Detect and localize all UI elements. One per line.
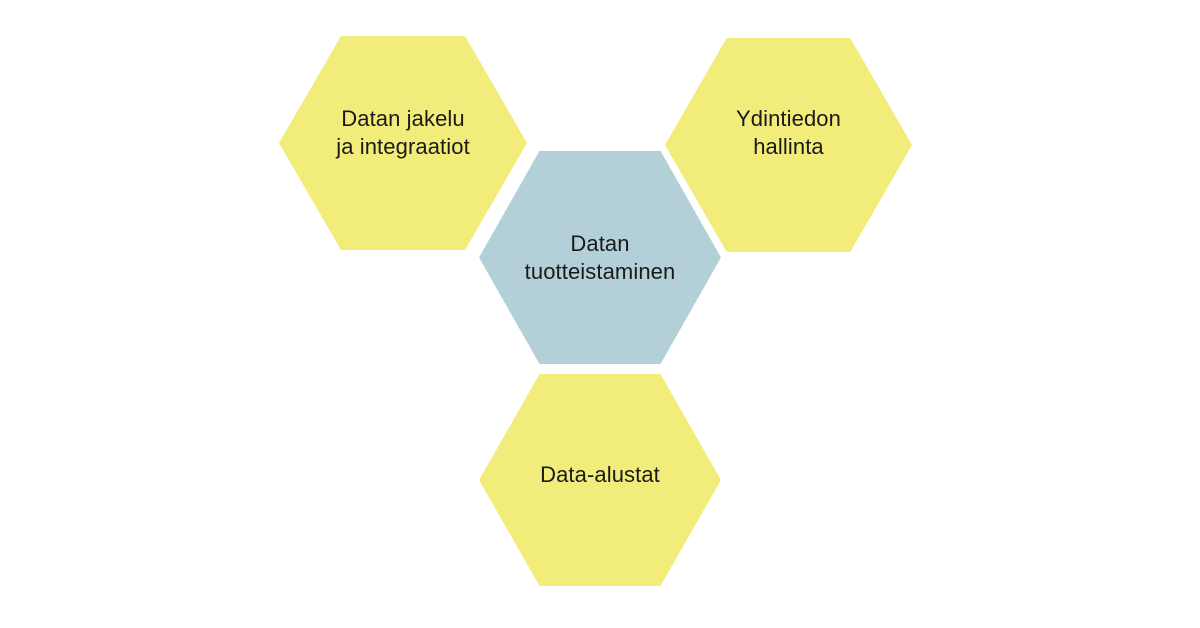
hexagon-label-data-distribution: Datan jakelu ja integraatiot <box>330 105 476 161</box>
hexagon-label-master-data-management: Ydintiedon hallinta <box>730 105 847 161</box>
hexagon-label-data-productization: Datan tuotteistaminen <box>519 230 682 286</box>
hexagon-data-distribution[interactable]: Datan jakelu ja integraatiot <box>279 36 527 250</box>
hexagon-label-data-platforms: Data-alustat <box>534 461 666 489</box>
hexagon-master-data-management[interactable]: Ydintiedon hallinta <box>665 38 912 252</box>
hexagon-data-platforms[interactable]: Data-alustat <box>479 374 721 586</box>
hexagon-data-productization[interactable]: Datan tuotteistaminen <box>479 151 721 364</box>
diagram-canvas: Datan jakelu ja integraatiot Ydintiedon … <box>0 0 1200 628</box>
